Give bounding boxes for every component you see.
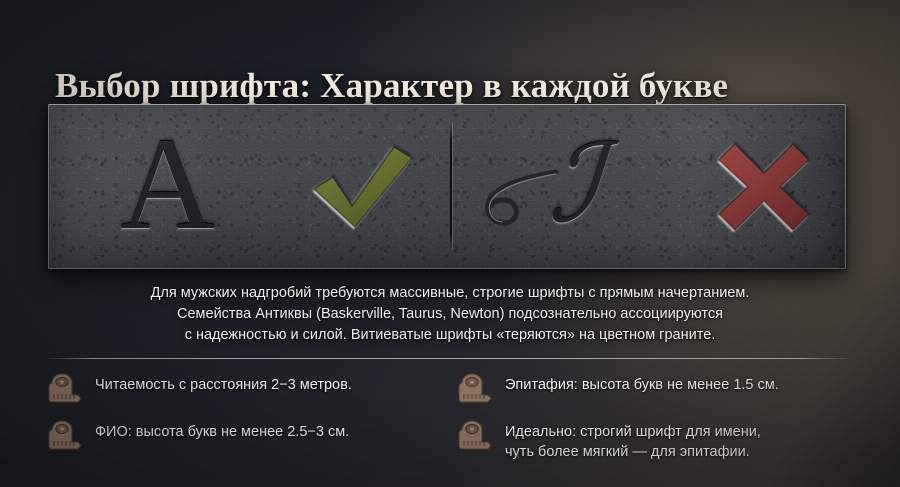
tape-measure-icon	[48, 420, 82, 450]
list-item-text: Эпитафия: высота букв не менее 1.5 см.	[505, 372, 779, 395]
list-item-line: Читаемость с расстояния 2−3 метров.	[95, 375, 352, 395]
granite-slab-panel: A	[48, 104, 846, 269]
section-divider	[48, 358, 848, 359]
good-font-example: A	[60, 104, 275, 269]
approved-indicator	[275, 104, 450, 269]
engraved-letter-a: A	[120, 118, 215, 250]
tape-measure-icon	[458, 373, 492, 403]
rejected-indicator	[684, 104, 844, 269]
bullet-column-right: Эпитафия: высота букв не менее 1.5 см. И…	[458, 372, 852, 478]
recommendation-lists: Читаемость с расстояния 2−3 метров. ФИО:…	[48, 372, 852, 478]
page-title: Выбор шрифта: Характер в каждой букве	[55, 65, 728, 107]
list-item-text: ФИО: высота букв не менее 2.5−3 см.	[95, 419, 349, 442]
list-item-line: Эпитафия: высота букв не менее 1.5 см.	[505, 375, 779, 395]
list-item-text: Читаемость с расстояния 2−3 метров.	[95, 372, 352, 395]
list-item-line: ФИО: высота букв не менее 2.5−3 см.	[95, 422, 349, 442]
cross-mark-icon	[716, 141, 812, 233]
list-item-text: Идеально: строгий шрифт для имени, чуть …	[505, 419, 761, 462]
bullet-column-left: Читаемость с расстояния 2−3 метров. ФИО:…	[48, 372, 442, 478]
glyph-comparison-row: A	[48, 104, 846, 269]
paragraph-line-2: Семейства Антиквы (Baskerville, Taurus, …	[0, 304, 900, 325]
tape-measure-icon	[458, 420, 492, 450]
engraved-script-letter: ℐ	[546, 131, 602, 239]
list-item: ФИО: высота букв не менее 2.5−3 см.	[48, 419, 442, 450]
description-paragraph: Для мужских надгробий требуются массивны…	[0, 283, 900, 346]
list-item: Идеально: строгий шрифт для имени, чуть …	[458, 419, 852, 462]
paragraph-line-3: с надежностью и силой. Витиеватые шрифты…	[0, 325, 900, 346]
tape-measure-icon	[48, 373, 82, 403]
infographic-canvas: Выбор шрифта: Характер в каждой букве A	[0, 0, 900, 487]
check-mark-icon	[311, 144, 415, 230]
list-item-line: чуть более мягкий — для эпитафии.	[505, 442, 761, 462]
list-item: Эпитафия: высота букв не менее 1.5 см.	[458, 372, 852, 403]
paragraph-line-1: Для мужских надгробий требуются массивны…	[0, 283, 900, 304]
list-item: Читаемость с расстояния 2−3 метров.	[48, 372, 442, 403]
bad-font-example: ℐ	[464, 104, 684, 269]
list-item-line: Идеально: строгий шрифт для имени,	[505, 422, 761, 442]
